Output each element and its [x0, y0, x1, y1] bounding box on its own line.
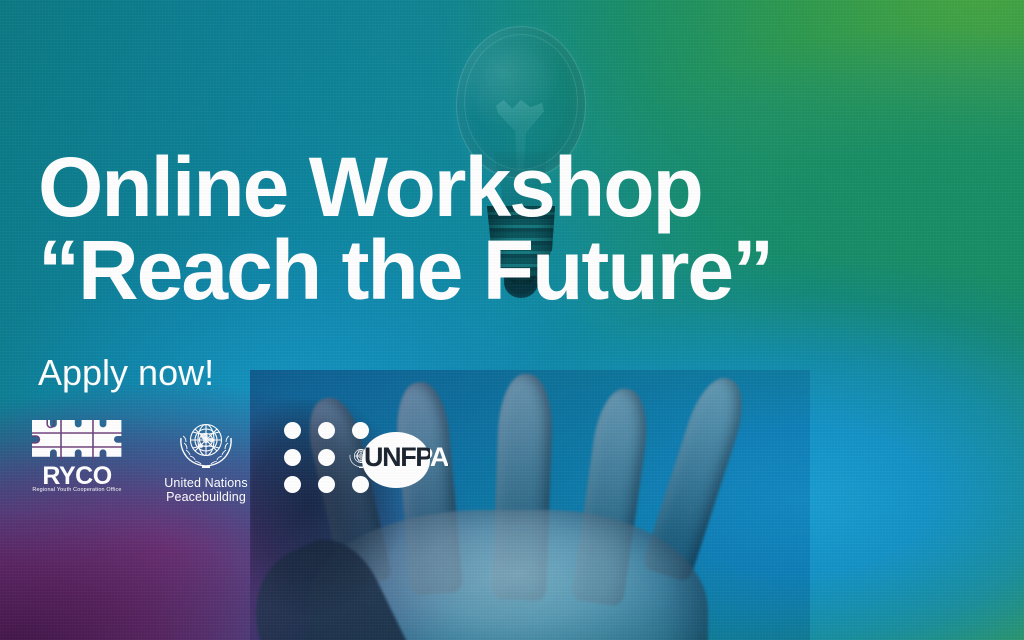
apply-now-text: Apply now!	[38, 352, 214, 394]
ryco-tagline: Regional Youth Cooperation Office	[30, 488, 124, 493]
headline-line-1: Online Workshop	[38, 140, 702, 234]
unfpa-dot-2	[318, 422, 335, 439]
headline-line-2: “Reach the Future”	[38, 229, 938, 312]
ryco-wordmark: RYCO	[30, 464, 124, 489]
un-peacebuilding-line-2: Peacebuilding	[154, 490, 258, 504]
logo-un-peacebuilding: United Nations Peacebuilding	[154, 416, 258, 502]
unfpa-dot-1	[284, 422, 301, 439]
hand-duotone-tint	[250, 370, 810, 640]
logo-ryco: RYCO Regional Youth Cooperation Office	[30, 416, 126, 502]
unfpa-dot-3	[352, 422, 369, 439]
unfpa-wordmark-overflow-text: UNFPA	[430, 444, 448, 471]
puzzle-pieces-icon	[30, 416, 124, 464]
unfpa-dot-5	[318, 449, 335, 466]
logo-unfpa: UNFPA UNFPA	[284, 416, 434, 502]
unfpa-dot-9	[352, 476, 369, 493]
un-emblem-icon	[173, 416, 239, 472]
unfpa-dot-4	[284, 449, 301, 466]
un-peacebuilding-line-1: United Nations	[154, 476, 258, 490]
unfpa-wordmark-overflow: UNFPA	[430, 438, 448, 484]
unfpa-dot-7	[284, 476, 301, 493]
open-hand-image	[250, 370, 810, 640]
un-emblem-svg	[173, 416, 239, 472]
poster-headline: Online Workshop “Reach the Future”	[38, 146, 938, 312]
puzzle-svg	[30, 416, 124, 464]
logo-bar: RYCO Regional Youth Cooperation Office	[30, 416, 434, 502]
unfpa-dot-8	[318, 476, 335, 493]
un-peacebuilding-label: United Nations Peacebuilding	[154, 476, 258, 504]
poster-canvas: Online Workshop “Reach the Future” Apply…	[0, 0, 1024, 640]
